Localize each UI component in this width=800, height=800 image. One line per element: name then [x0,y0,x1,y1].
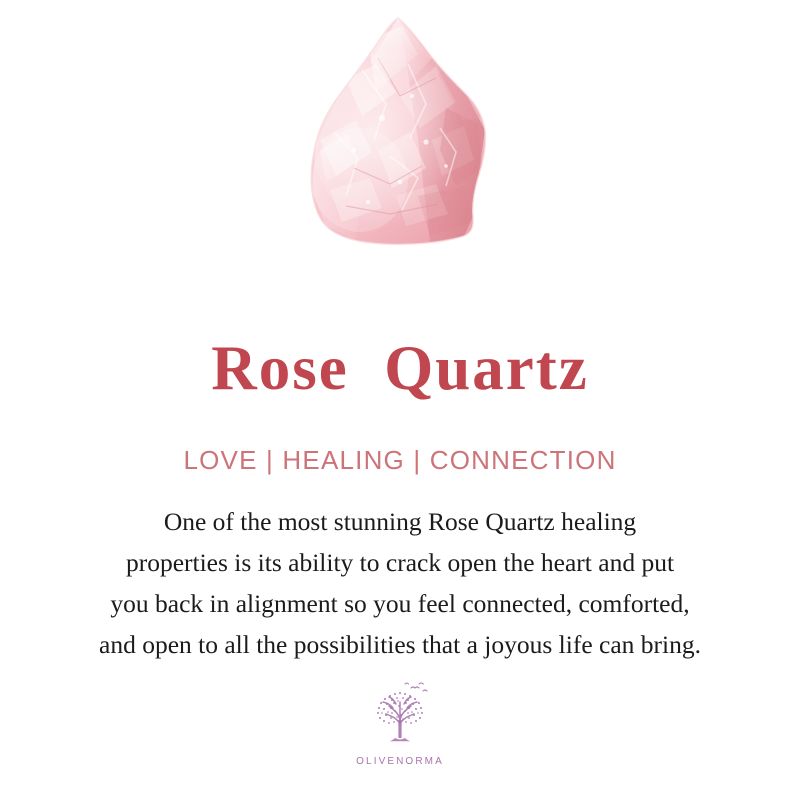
description-line: you back in alignment so you feel connec… [30,583,770,624]
brand-wordmark: OLIVENORMA [356,756,444,767]
crystal-body [250,0,550,300]
rose-quartz-info-card: Rose Quartz LOVE | HEALING | CONNECTION … [0,0,800,800]
tree-of-life-icon [361,676,439,754]
description-line: and open to all the possibilities that a… [30,624,770,665]
page-title: Rose Quartz [0,337,800,400]
brand-logo: OLIVENORMA [0,676,800,767]
rose-quartz-crystal-icon [250,0,550,300]
description-paragraph: One of the most stunning Rose Quartz hea… [30,501,770,665]
description-line: One of the most stunning Rose Quartz hea… [30,501,770,542]
keyword-tagline: LOVE | HEALING | CONNECTION [0,446,800,475]
crystal-image-container [0,0,800,300]
description-line: properties is its ability to crack open … [30,542,770,583]
